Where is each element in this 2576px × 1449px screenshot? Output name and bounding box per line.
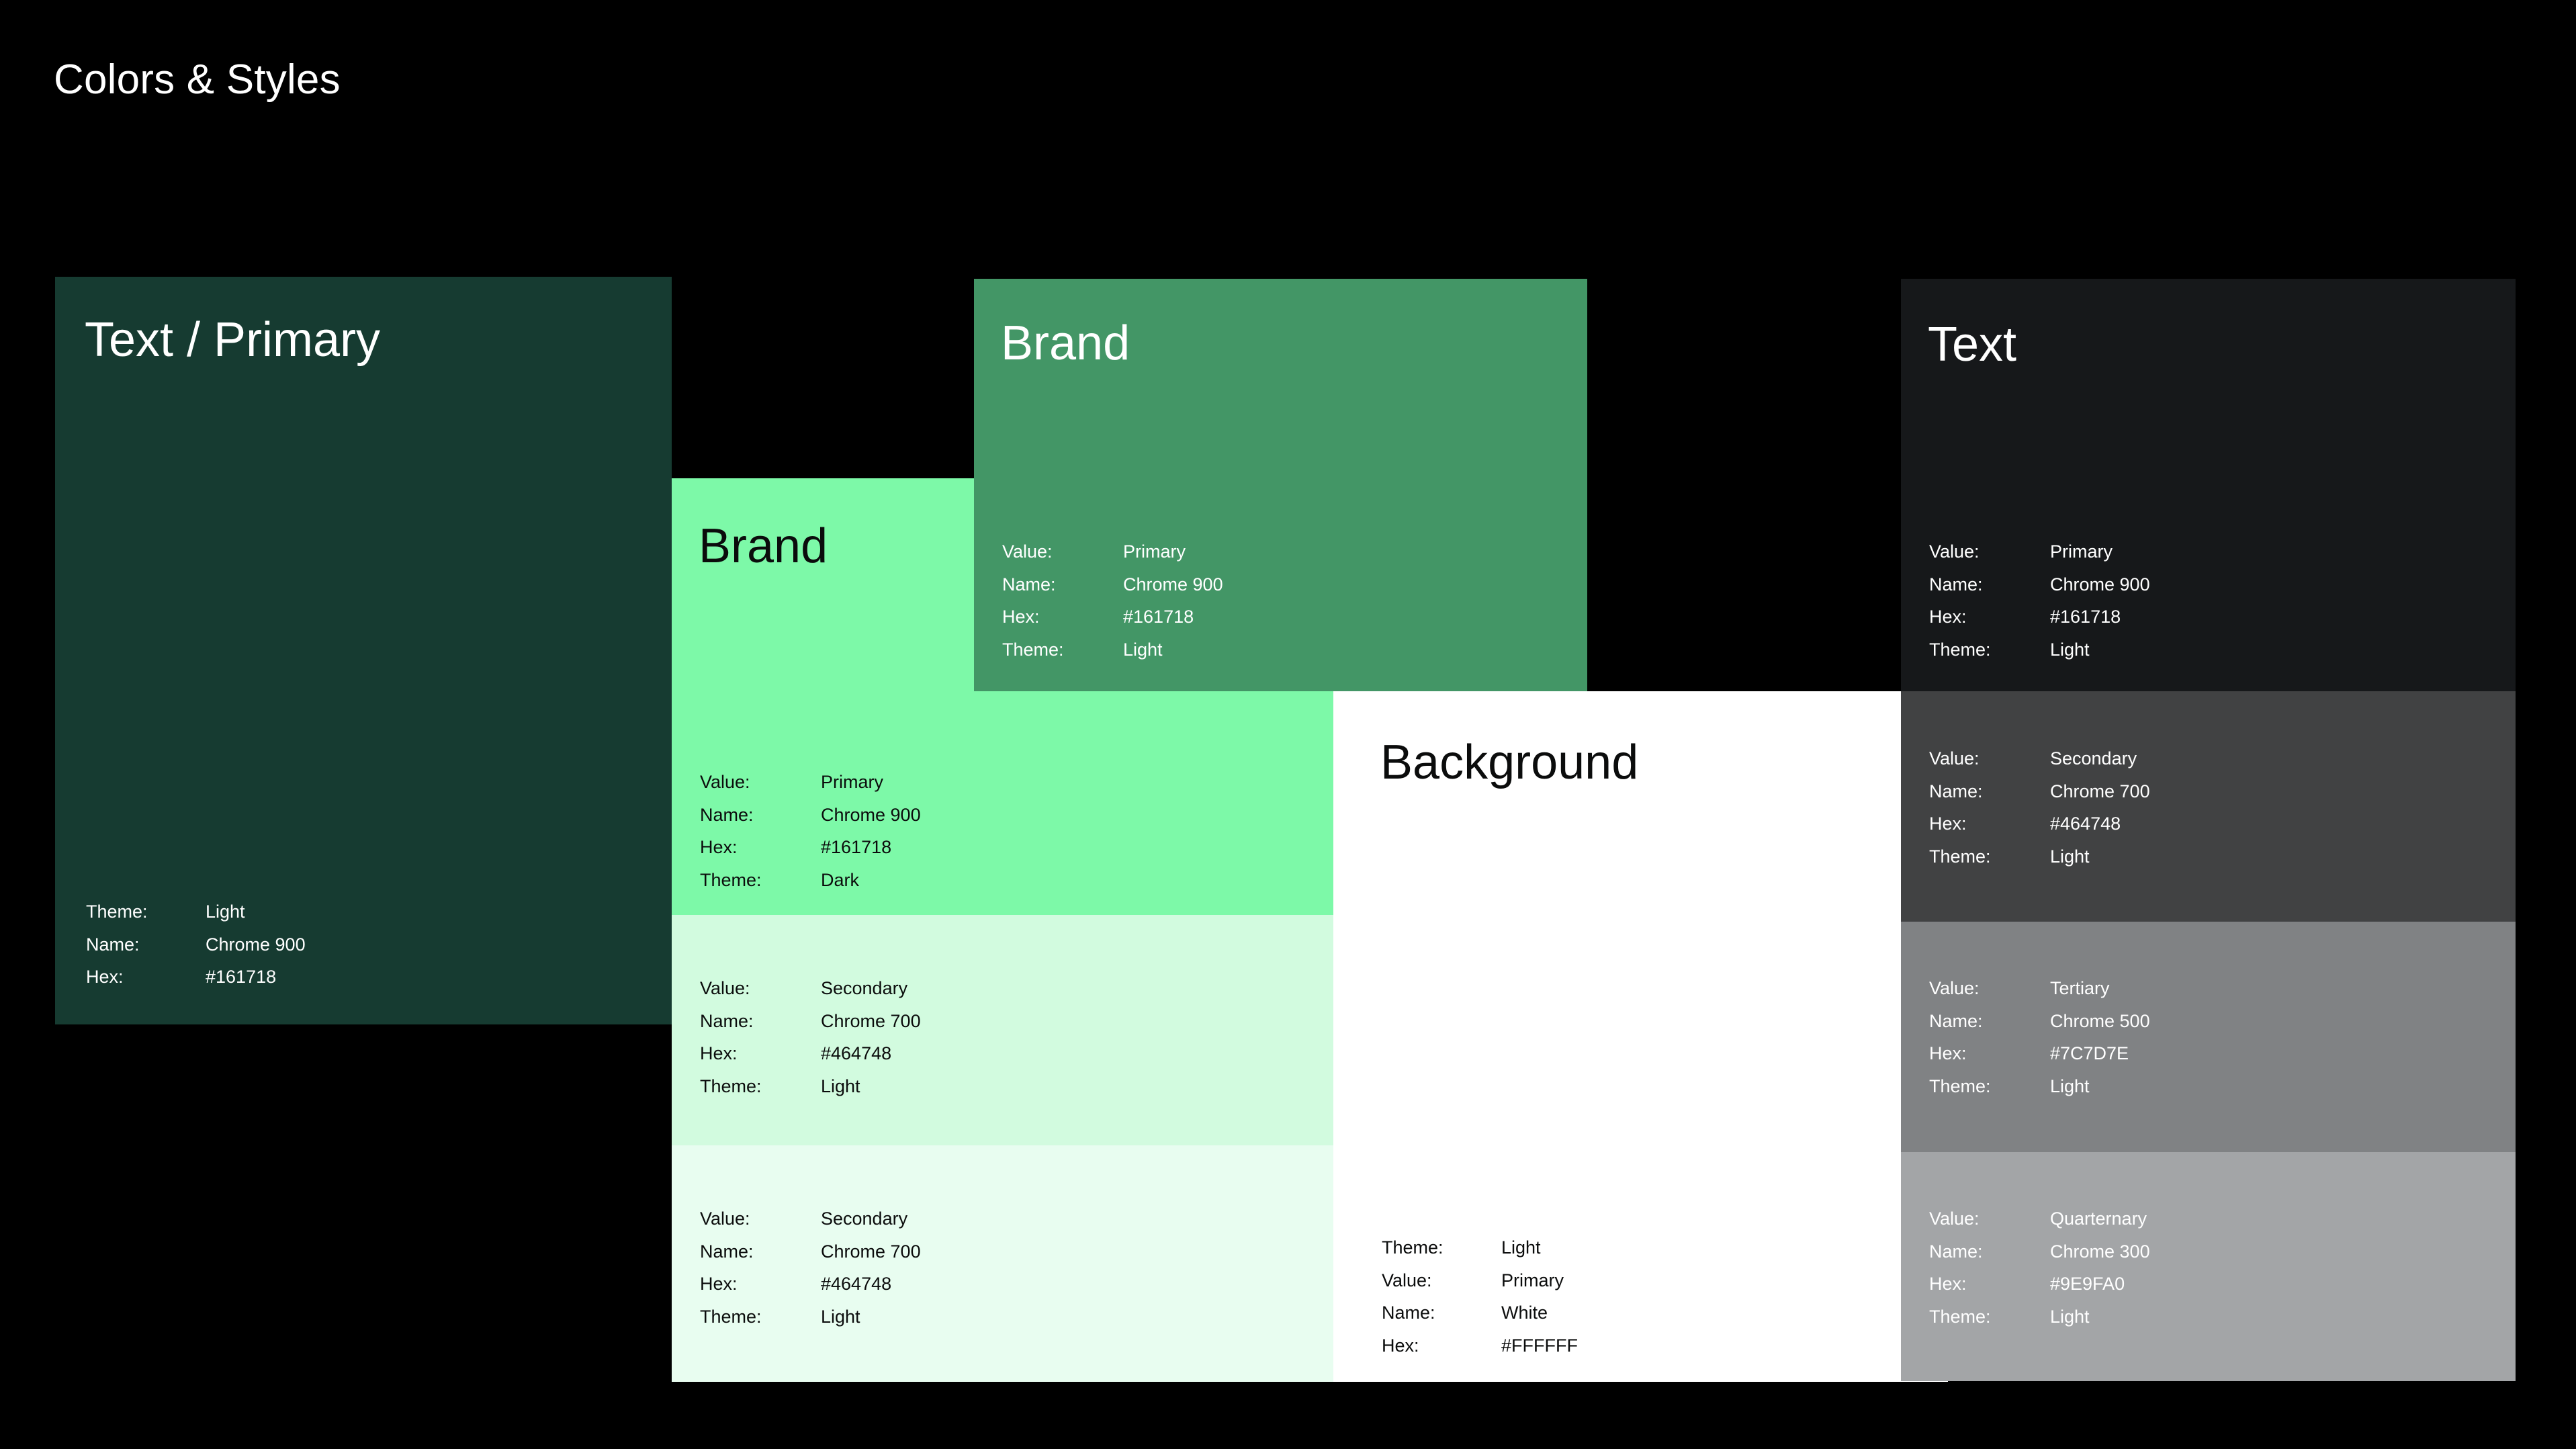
swatch-meta-table: Value:QuarternaryName:Chrome 300Hex:#9E9… <box>1929 1202 2150 1333</box>
swatch-meta-key: Theme: <box>1929 633 2050 666</box>
swatch-meta-value: Secondary <box>821 1202 921 1235</box>
swatch-meta-value: Light <box>1501 1231 1578 1264</box>
swatch-meta-key: Name: <box>86 928 206 961</box>
swatch-meta-table: Value:SecondaryName:Chrome 700Hex:#46474… <box>700 1202 921 1333</box>
swatch-meta-value: #464748 <box>821 1268 921 1301</box>
swatch-meta-value: Primary <box>821 766 921 799</box>
swatch-meta-table: Theme:LightName:Chrome 900Hex:#161718 <box>86 895 306 994</box>
swatch-meta-value: Chrome 900 <box>1123 568 1223 601</box>
swatch-heading: Background <box>1380 738 1638 787</box>
swatch-meta-key: Name: <box>700 799 821 832</box>
swatch-meta-key: Value: <box>700 1202 821 1235</box>
swatch-meta-table: Value:PrimaryName:Chrome 900Hex:#161718T… <box>1002 535 1223 666</box>
swatch-meta-key: Hex: <box>86 961 206 994</box>
swatch-meta-key: Theme: <box>700 864 821 897</box>
swatch-meta-key: Hex: <box>1929 807 2050 840</box>
swatch-meta-key: Hex: <box>700 831 821 864</box>
swatch-meta-value: Quarternary <box>2050 1202 2150 1235</box>
swatch-meta-value: #161718 <box>821 831 921 864</box>
swatch-meta-key: Value: <box>700 972 821 1005</box>
swatch-meta-key: Theme: <box>1929 840 2050 873</box>
swatch-meta-table: Value:PrimaryName:Chrome 900Hex:#161718T… <box>700 766 921 896</box>
swatch-card-text[interactable]: Text Value:PrimaryName:Chrome 900Hex:#16… <box>1901 279 2516 691</box>
swatch-meta-key: Name: <box>1929 1235 2050 1268</box>
swatch-card-text-primary[interactable]: Text / Primary Theme:LightName:Chrome 90… <box>55 277 672 1024</box>
swatch-meta-key: Theme: <box>700 1070 821 1103</box>
swatch-meta-value: #9E9FA0 <box>2050 1268 2150 1301</box>
swatch-meta-value: Secondary <box>2050 742 2150 775</box>
swatch-meta-table: Value:SecondaryName:Chrome 700Hex:#46474… <box>1929 742 2150 873</box>
swatch-meta-key: Hex: <box>700 1268 821 1301</box>
swatch-heading: Brand <box>1001 319 1130 367</box>
swatch-meta-key: Value: <box>1382 1264 1501 1297</box>
swatch-heading: Text / Primary <box>85 316 380 364</box>
swatch-meta-value: Light <box>2050 633 2150 666</box>
swatch-meta-key: Value: <box>1929 972 2050 1005</box>
swatch-meta-value: Chrome 700 <box>821 1005 921 1038</box>
swatch-meta-key: Hex: <box>1002 601 1123 633</box>
swatch-meta-key: Name: <box>700 1235 821 1268</box>
swatch-meta-value: Light <box>821 1070 921 1103</box>
swatch-meta-key: Name: <box>1382 1297 1501 1329</box>
swatch-meta-value: Secondary <box>821 972 921 1005</box>
swatch-meta-key: Theme: <box>1929 1070 2050 1103</box>
swatch-meta-value: Primary <box>1501 1264 1578 1297</box>
swatch-meta-key: Name: <box>1002 568 1123 601</box>
swatch-meta-key: Name: <box>700 1005 821 1038</box>
swatch-meta-table: Value:SecondaryName:Chrome 700Hex:#46474… <box>700 972 921 1102</box>
swatch-meta-key: Hex: <box>1929 601 2050 633</box>
swatch-meta-value: Chrome 900 <box>2050 568 2150 601</box>
swatch-panel-text-secondary[interactable]: Value:SecondaryName:Chrome 700Hex:#46474… <box>1901 691 2516 922</box>
swatch-meta-value: Light <box>2050 840 2150 873</box>
swatch-meta-value: Chrome 900 <box>206 928 306 961</box>
swatch-panel-text-quarternary[interactable]: Value:QuarternaryName:Chrome 300Hex:#9E9… <box>1901 1152 2516 1381</box>
swatch-meta-value: Primary <box>2050 535 2150 568</box>
swatch-meta-value: Chrome 300 <box>2050 1235 2150 1268</box>
swatch-meta-key: Theme: <box>1382 1231 1501 1264</box>
swatch-meta-key: Value: <box>1929 1202 2050 1235</box>
swatch-meta-value: Chrome 700 <box>2050 775 2150 808</box>
swatch-meta-value: #161718 <box>2050 601 2150 633</box>
swatch-meta-value: #161718 <box>1123 601 1223 633</box>
swatch-panel-mint-secondary-2[interactable]: Value:SecondaryName:Chrome 700Hex:#46474… <box>672 1145 1333 1382</box>
swatch-meta-value: #161718 <box>206 961 306 994</box>
swatch-meta-key: Hex: <box>700 1037 821 1070</box>
swatch-card-background[interactable]: Background Theme:LightValue:PrimaryName:… <box>1333 691 1948 1382</box>
swatch-meta-value: Light <box>2050 1301 2150 1333</box>
swatch-meta-value: #FFFFFF <box>1501 1329 1578 1362</box>
swatch-meta-value: Light <box>821 1301 921 1333</box>
swatch-meta-key: Hex: <box>1929 1268 2050 1301</box>
swatch-meta-key: Name: <box>1929 1005 2050 1038</box>
swatch-meta-key: Theme: <box>86 895 206 928</box>
swatch-meta-key: Hex: <box>1382 1329 1501 1362</box>
swatch-meta-value: Light <box>206 895 306 928</box>
swatch-meta-key: Value: <box>700 766 821 799</box>
swatch-meta-key: Theme: <box>1929 1301 2050 1333</box>
swatch-meta-key: Theme: <box>700 1301 821 1333</box>
swatch-meta-value: Dark <box>821 864 921 897</box>
swatch-meta-table: Theme:LightValue:PrimaryName:WhiteHex:#F… <box>1382 1231 1578 1362</box>
swatch-meta-key: Name: <box>1929 568 2050 601</box>
swatch-meta-value: White <box>1501 1297 1578 1329</box>
swatch-heading: Text <box>1928 320 2016 369</box>
swatch-meta-value: Chrome 900 <box>821 799 921 832</box>
swatch-meta-table: Value:PrimaryName:Chrome 900Hex:#161718T… <box>1929 535 2150 666</box>
swatch-meta-key: Value: <box>1929 535 2050 568</box>
swatch-meta-value: Light <box>2050 1070 2150 1103</box>
swatch-meta-value: Primary <box>1123 535 1223 568</box>
swatch-meta-value: #464748 <box>821 1037 921 1070</box>
swatch-panel-mint-secondary-1[interactable]: Value:SecondaryName:Chrome 700Hex:#46474… <box>672 915 1333 1145</box>
swatch-meta-key: Theme: <box>1002 633 1123 666</box>
swatch-panel-text-tertiary[interactable]: Value:TertiaryName:Chrome 500Hex:#7C7D7E… <box>1901 922 2516 1152</box>
swatch-meta-key: Name: <box>1929 775 2050 808</box>
swatch-meta-value: Light <box>1123 633 1223 666</box>
swatch-meta-key: Value: <box>1002 535 1123 568</box>
swatch-meta-key: Value: <box>1929 742 2050 775</box>
swatch-meta-table: Value:TertiaryName:Chrome 500Hex:#7C7D7E… <box>1929 972 2150 1102</box>
swatch-meta-key: Hex: <box>1929 1037 2050 1070</box>
swatch-card-brand-green[interactable]: Brand Value:PrimaryName:Chrome 900Hex:#1… <box>974 279 1587 691</box>
swatch-meta-value: Chrome 700 <box>821 1235 921 1268</box>
swatch-meta-value: #464748 <box>2050 807 2150 840</box>
swatch-heading: Brand <box>699 522 828 570</box>
swatch-meta-value: #7C7D7E <box>2050 1037 2150 1070</box>
swatch-meta-value: Chrome 500 <box>2050 1005 2150 1038</box>
page-title: Colors & Styles <box>54 59 341 101</box>
swatch-meta-value: Tertiary <box>2050 972 2150 1005</box>
